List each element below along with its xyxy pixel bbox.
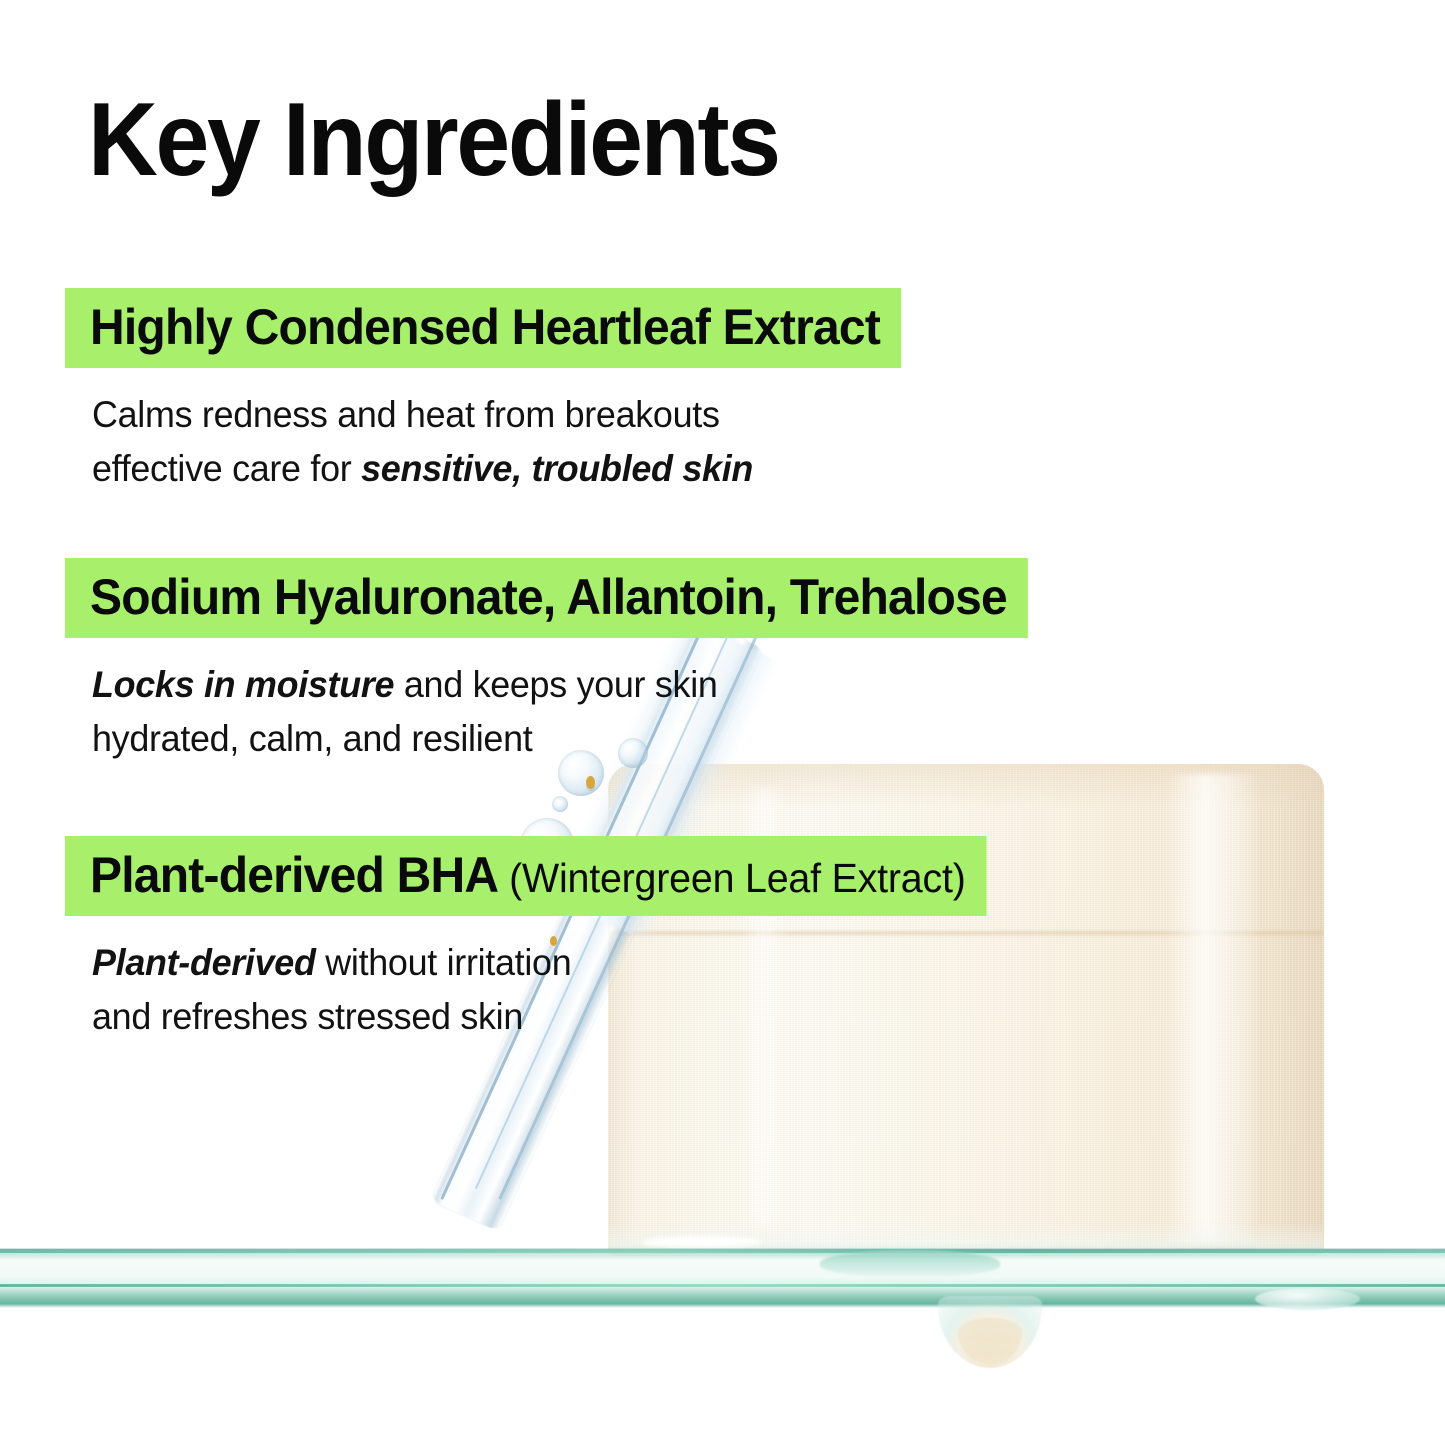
product-info-graphic: Key Ingredients Highly Condensed Heartle… <box>0 0 1445 1445</box>
description-emphasis: Locks in moisture <box>92 664 394 705</box>
description-line: Plant-derived without irritation <box>92 936 997 990</box>
ingredient-description-3: Plant-derived without irritation and ref… <box>92 936 997 1044</box>
description-emphasis: sensitive, troubled skin <box>361 448 753 489</box>
ingredient-heading-sub-text-3: (Wintergreen Leaf Extract) <box>509 855 966 901</box>
description-line: effective care for sensitive, troubled s… <box>92 442 911 496</box>
ingredient-heading-text-1: Highly Condensed Heartleaf Extract <box>90 299 880 355</box>
ingredient-heading-wrap-1: Highly Condensed Heartleaf Extract <box>0 288 936 368</box>
ingredient-description-1: Calms redness and heat from breakouts ef… <box>92 388 911 496</box>
description-line: and refreshes stressed skin <box>92 990 997 1044</box>
ingredient-block-1: Highly Condensed Heartleaf Extract Calms… <box>0 288 936 496</box>
description-text: and keeps your skin <box>394 664 717 705</box>
ingredient-heading-wrap-3: Plant-derived BHA (Wintergreen Leaf Extr… <box>0 836 1025 916</box>
ingredient-block-2: Sodium Hyaluronate, Allantoin, Trehalose… <box>0 558 1068 766</box>
description-text: without irritation <box>316 942 572 983</box>
ingredient-heading-sub-3: (Wintergreen Leaf Extract) <box>498 855 965 901</box>
description-line: hydrated, calm, and resilient <box>92 712 1039 766</box>
ingredient-heading-1: Highly Condensed Heartleaf Extract <box>65 288 901 368</box>
ingredient-description-2: Locks in moisture and keeps your skin hy… <box>92 658 1039 766</box>
ingredient-heading-3: Plant-derived BHA (Wintergreen Leaf Extr… <box>65 836 987 916</box>
description-text: effective care for <box>92 448 361 489</box>
ingredient-heading-text-2: Sodium Hyaluronate, Allantoin, Trehalose <box>90 569 1007 625</box>
description-emphasis: Plant-derived <box>92 942 316 983</box>
description-text: Calms redness and heat from breakouts <box>92 394 720 435</box>
description-line: Locks in moisture and keeps your skin <box>92 658 1039 712</box>
description-text: hydrated, calm, and resilient <box>92 718 532 759</box>
ingredient-heading-2: Sodium Hyaluronate, Allantoin, Trehalose <box>65 558 1028 638</box>
description-text: and refreshes stressed skin <box>92 996 523 1037</box>
page-title: Key Ingredients <box>88 88 779 192</box>
ingredient-block-3: Plant-derived BHA (Wintergreen Leaf Extr… <box>0 836 1025 1044</box>
text-content: Key Ingredients Highly Condensed Heartle… <box>0 0 1445 1445</box>
ingredient-heading-wrap-2: Sodium Hyaluronate, Allantoin, Trehalose <box>0 558 1068 638</box>
ingredient-heading-text-3: Plant-derived BHA <box>90 847 498 903</box>
description-line: Calms redness and heat from breakouts <box>92 388 911 442</box>
